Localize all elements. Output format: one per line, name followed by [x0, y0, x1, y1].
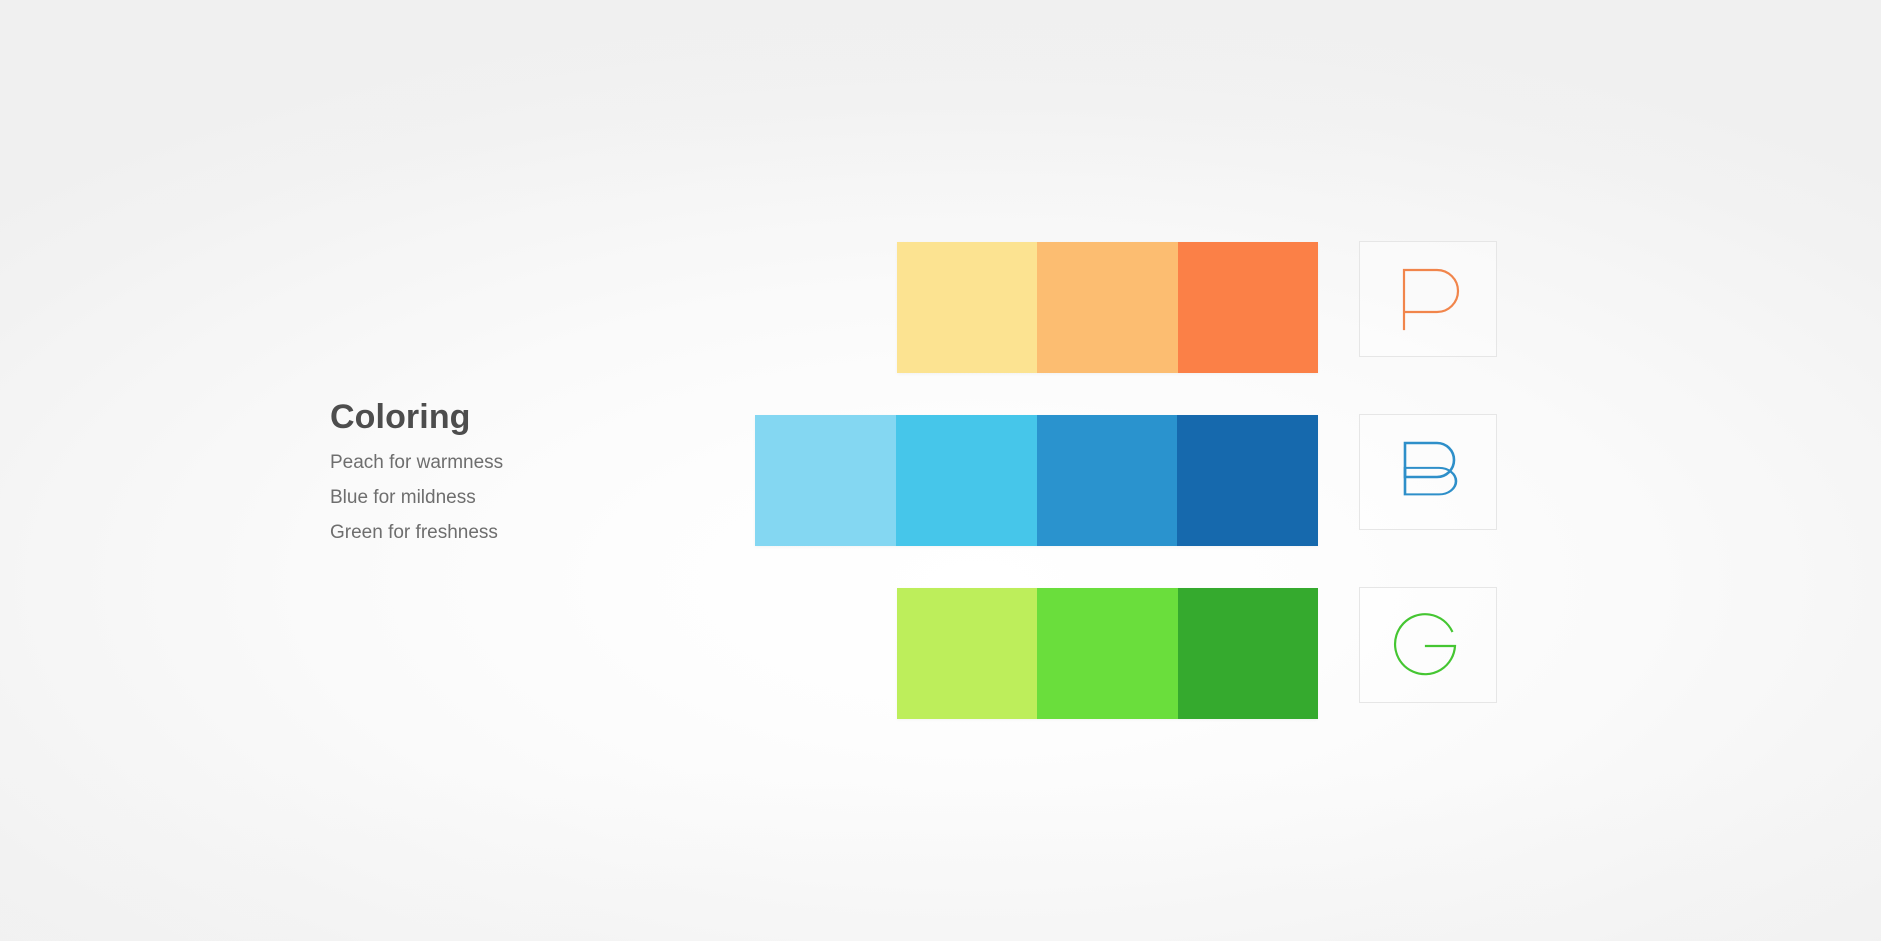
caption-line-green: Green for freshness [330, 523, 660, 542]
swatch-peach-dark[interactable] [1178, 242, 1318, 373]
palette-row-green [897, 588, 1318, 719]
letter-b-icon [1390, 434, 1466, 510]
letter-tile-peach[interactable] [1359, 241, 1497, 357]
swatch-green-medium[interactable] [1037, 588, 1177, 719]
palette-row-peach [897, 242, 1318, 373]
page-title: Coloring [330, 400, 660, 436]
caption-line-peach: Peach for warmness [330, 453, 660, 472]
letter-p-icon [1390, 261, 1466, 337]
swatch-peach-light[interactable] [897, 242, 1037, 373]
swatch-peach-medium[interactable] [1037, 242, 1177, 373]
swatch-green-light[interactable] [897, 588, 1037, 719]
letter-tile-green[interactable] [1359, 587, 1497, 703]
caption-line-blue: Blue for mildness [330, 488, 660, 507]
letter-tile-blue[interactable] [1359, 414, 1497, 530]
swatch-blue-lightest[interactable] [755, 415, 896, 546]
palette-row-blue [755, 415, 1318, 546]
swatch-green-dark[interactable] [1178, 588, 1318, 719]
swatch-blue-medium[interactable] [1037, 415, 1178, 546]
swatch-blue-dark[interactable] [1177, 415, 1318, 546]
swatch-blue-light[interactable] [896, 415, 1037, 546]
text-block: Coloring Peach for warmness Blue for mil… [330, 400, 660, 542]
letter-g-icon [1390, 607, 1466, 683]
